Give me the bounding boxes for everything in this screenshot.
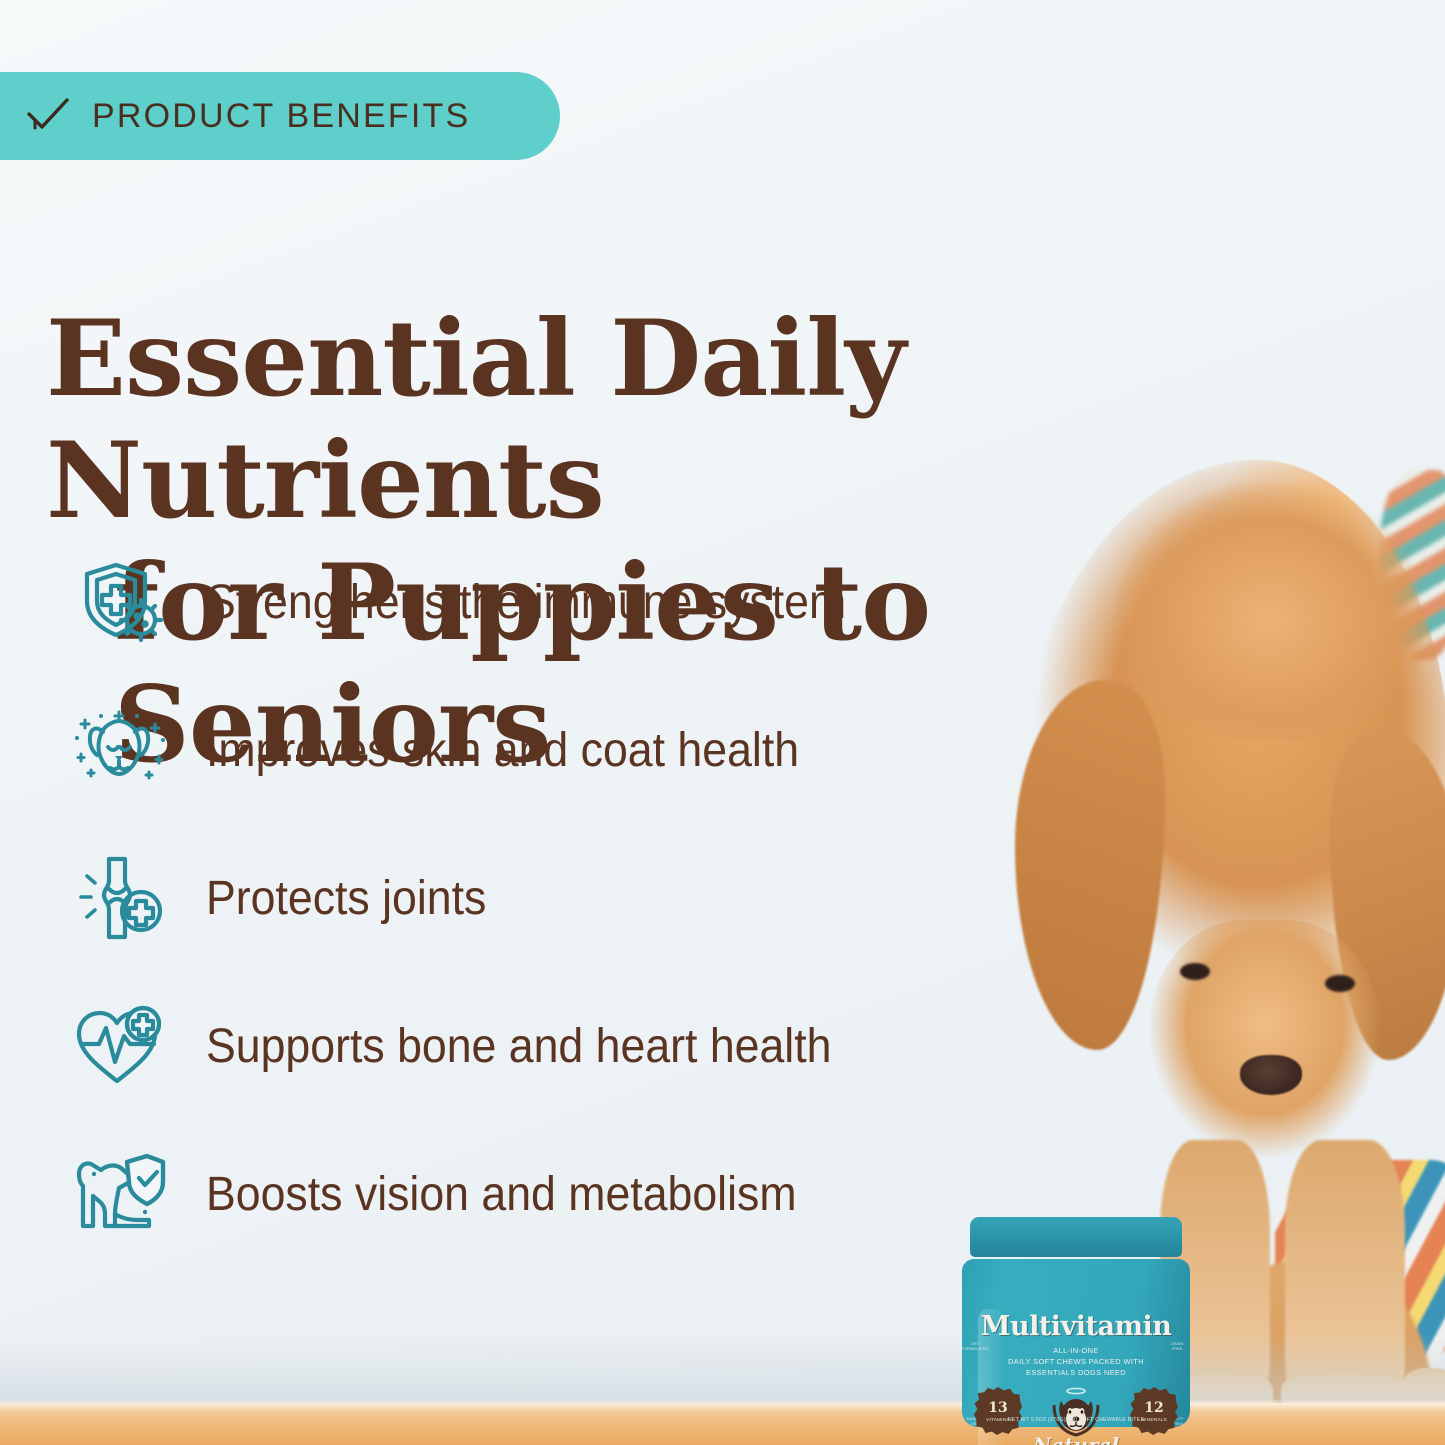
dog-eye-right: [1325, 975, 1355, 992]
tagline-line-2: DAILY SOFT CHEWS PACKED WITH: [984, 1356, 1168, 1367]
benefits-list: Strengthens the immune system: [60, 528, 1060, 1268]
benefit-item: Boosts vision and metabolism: [60, 1120, 1060, 1268]
dog-nose: [1240, 1055, 1302, 1095]
product-benefits-badge: PRODUCT BENEFITS: [0, 72, 560, 160]
benefit-label: Boosts vision and metabolism: [206, 1167, 797, 1222]
badge-label: PRODUCT BENEFITS: [92, 97, 470, 136]
vitamins-seal: 13 VITAMINS: [974, 1387, 1022, 1435]
net-weight-text: NET WT 9.5OZ (270G) | 90 SOFT CHEWABLE B…: [962, 1417, 1190, 1423]
jar-body: VET FORMULATED MADE IN USA GRAIN FREE TA…: [962, 1259, 1190, 1427]
brand-mascot-icon: [1048, 1385, 1104, 1437]
joint-bone-icon: [60, 844, 178, 952]
vitamins-count: 13: [988, 1401, 1007, 1415]
minerals-seal: 12 MINERALS: [1130, 1387, 1178, 1435]
check-icon: [26, 97, 70, 136]
tagline-line-3: ESSENTIALS DOGS NEED: [984, 1367, 1168, 1378]
product-name: Multivitamin: [962, 1311, 1190, 1342]
wooden-floor: [0, 1403, 1445, 1445]
benefit-label: Protects joints: [206, 871, 486, 926]
heart-pulse-icon: [60, 992, 178, 1100]
jar-lid: [970, 1217, 1182, 1257]
shield-virus-icon: [60, 548, 178, 656]
dog-sparkle-icon: [60, 696, 178, 804]
brand-lockup: Natural DOG COMPANY: [962, 1435, 1190, 1445]
product-tagline: ALL-IN-ONE DAILY SOFT CHEWS PACKED WITH …: [984, 1345, 1168, 1378]
side-badge-label: GRAIN FREE: [1168, 1342, 1186, 1352]
headline-line-1: Essential Daily Nutrients: [46, 296, 905, 542]
benefit-item: Supports bone and heart health: [60, 972, 1060, 1120]
brand-name: Natural: [962, 1435, 1190, 1445]
benefit-label: Strengthens the immune system: [206, 575, 846, 630]
product-benefits-graphic: PRODUCT BENEFITS Essential Daily Nutrien…: [0, 0, 1445, 1445]
benefit-label: Improves skin and coat health: [206, 723, 799, 778]
dog-eye-left: [1180, 963, 1210, 980]
benefit-label: Supports bone and heart health: [206, 1019, 831, 1074]
benefit-item: Improves skin and coat health: [60, 676, 1060, 824]
product-seals: 13 VITAMINS: [974, 1387, 1178, 1435]
wall-shadow: [0, 1333, 1445, 1403]
product-jar: VET FORMULATED MADE IN USA GRAIN FREE TA…: [962, 1217, 1190, 1427]
minerals-count: 12: [1144, 1401, 1163, 1415]
benefit-item: Protects joints: [60, 824, 1060, 972]
tagline-line-1: ALL-IN-ONE: [984, 1345, 1168, 1356]
benefit-item: Strengthens the immune system: [60, 528, 1060, 676]
dog-shield-check-icon: [60, 1140, 178, 1248]
